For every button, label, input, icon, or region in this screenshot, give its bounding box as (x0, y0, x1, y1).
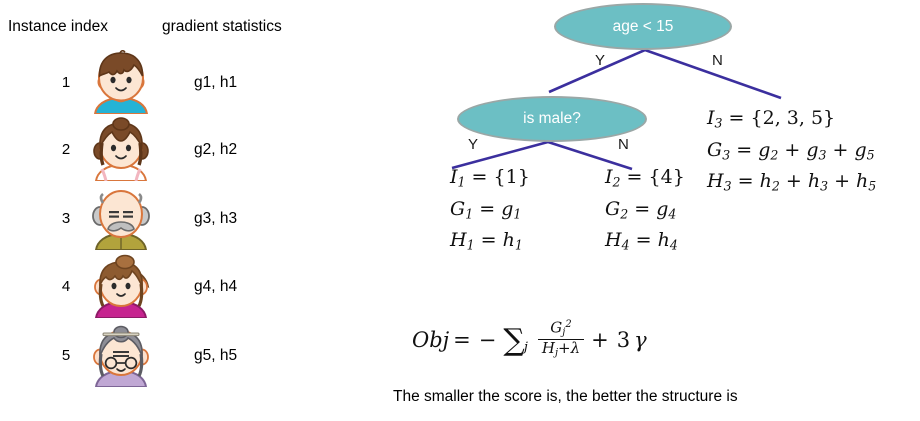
edge-label-root-no: N (712, 52, 723, 69)
penalty-coefficient: 3 (617, 328, 630, 352)
instance-index-label: 1 (56, 74, 76, 91)
table-row: 5 g5, h5 (0, 321, 340, 391)
old-woman-avatar (90, 323, 152, 387)
summation-index: j (524, 340, 528, 355)
table-row: 2 g2, h2 (0, 115, 340, 185)
column-header-instance-index: Instance index (8, 18, 108, 36)
leaf-statistics-2: I2 = {4} G2 = g4 H4 = h4 (605, 164, 685, 259)
gradient-statistics-value: g4, h4 (194, 278, 237, 296)
leaf-3-H-sum: h2 + h3 + h5 (760, 170, 877, 192)
tree-node-root-label: age < 15 (613, 18, 674, 36)
leaf-3-line-G: G3 = g2 + g3 + g5 (707, 137, 876, 169)
gradient-statistics-value: g1, h1 (194, 74, 237, 92)
gradient-statistics-value: g5, h5 (194, 347, 237, 365)
caption-text: The smaller the score is, the better the… (393, 388, 738, 406)
summation-icon: ∑ (503, 326, 524, 356)
edge-label-root-yes: Y (595, 52, 605, 69)
objective-plus: + (591, 328, 609, 352)
leaf-3-G-sum: g2 + g3 + g5 (758, 139, 874, 161)
instance-index-label: 5 (56, 347, 76, 364)
leaf-statistics-3: I3 = {2, 3, 5} G3 = g2 + g3 + g5 H3 = h2… (707, 105, 876, 200)
leaf-1-line-I: I1 = {1} (450, 164, 530, 196)
leaf-2-line-H: H4 = h4 (605, 227, 685, 259)
girl-avatar (90, 117, 152, 181)
gamma-symbol: γ (634, 328, 647, 352)
gradient-statistics-value: g2, h2 (194, 141, 237, 159)
leaf-1-line-H: H1 = h1 (450, 227, 530, 259)
table-row: 1 g1, h1 (0, 48, 340, 118)
young-woman-avatar (90, 254, 152, 318)
boy-avatar (90, 50, 152, 114)
fraction-numerator: Gj2 (546, 320, 575, 339)
column-header-gradient-statistics: gradient statistics (162, 18, 282, 36)
objective-formula: Obj = − ∑ j Gj2 Hj+λ + 3 γ (412, 320, 647, 359)
fraction-denominator: Hj+λ (538, 339, 584, 359)
objective-lhs: Obj (412, 328, 449, 352)
instance-index-label: 3 (56, 210, 76, 227)
leaf-3-line-H: H3 = h2 + h3 + h5 (707, 168, 876, 200)
objective-fraction: Gj2 Hj+λ (538, 320, 584, 359)
edge-label-is-male-no: N (618, 136, 629, 153)
gradient-statistics-value: g3, h3 (194, 210, 237, 228)
leaf-2-line-I: I2 = {4} (605, 164, 685, 196)
tree-node-root[interactable]: age < 15 (554, 3, 732, 50)
edge-label-is-male-yes: Y (468, 136, 478, 153)
table-row: 3 g3, h3 (0, 184, 340, 254)
leaf-statistics-1: I1 = {1} G1 = g1 H1 = h1 (450, 164, 530, 259)
tree-node-is-male-label: is male? (523, 110, 581, 128)
leaf-3-line-I: I3 = {2, 3, 5} (707, 105, 876, 137)
old-man-avatar (90, 186, 152, 250)
table-row: 4 g4, h4 (0, 252, 340, 322)
objective-minus: − (479, 328, 497, 352)
objective-equals: = (453, 328, 471, 352)
instance-index-label: 2 (56, 141, 76, 158)
instance-index-label: 4 (56, 278, 76, 295)
leaf-2-line-G: G2 = g4 (605, 196, 685, 228)
leaf-1-line-G: G1 = g1 (450, 196, 530, 228)
slide-canvas: Instance index gradient statistics 1 g1,… (0, 0, 920, 421)
